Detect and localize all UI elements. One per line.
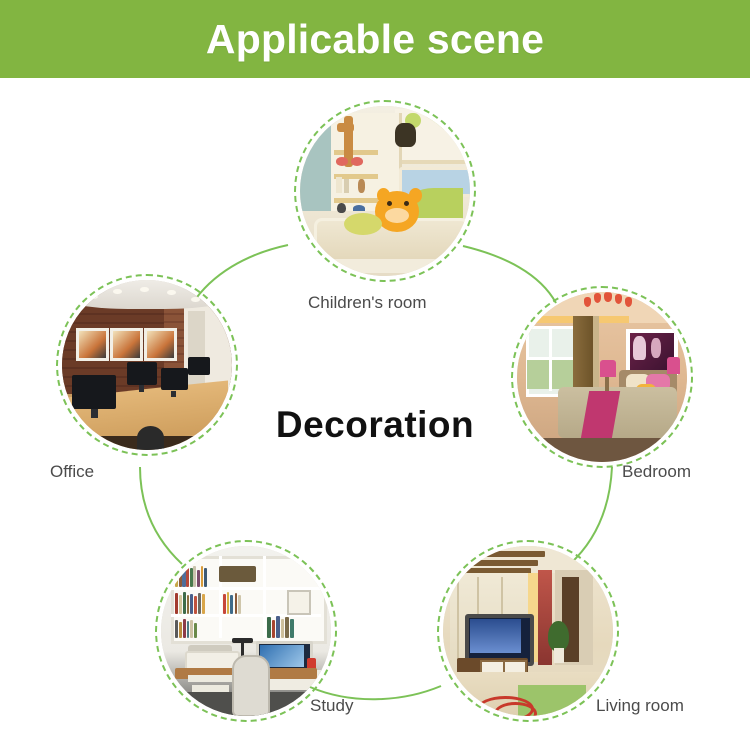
page-title: Applicable scene [206, 16, 544, 63]
header-banner: Applicable scene [0, 0, 750, 78]
scene-node-living-room[interactable] [437, 540, 619, 722]
scene-node-study[interactable] [155, 540, 337, 722]
chandelier [582, 292, 636, 316]
scene-label-children-room: Children's room [308, 293, 427, 313]
living-room-photo [443, 546, 613, 716]
scene-label-study: Study [310, 696, 353, 716]
diagram-center-label: Decoration [0, 404, 750, 446]
applicable-scene-diagram: Children's room [0, 78, 750, 750]
scene-node-children-room[interactable] [294, 100, 476, 282]
scene-label-office: Office [50, 462, 94, 482]
scene-label-living-room: Living room [596, 696, 684, 716]
scene-label-bedroom: Bedroom [622, 462, 691, 482]
study-photo [161, 546, 331, 716]
children-room-photo [300, 106, 470, 276]
